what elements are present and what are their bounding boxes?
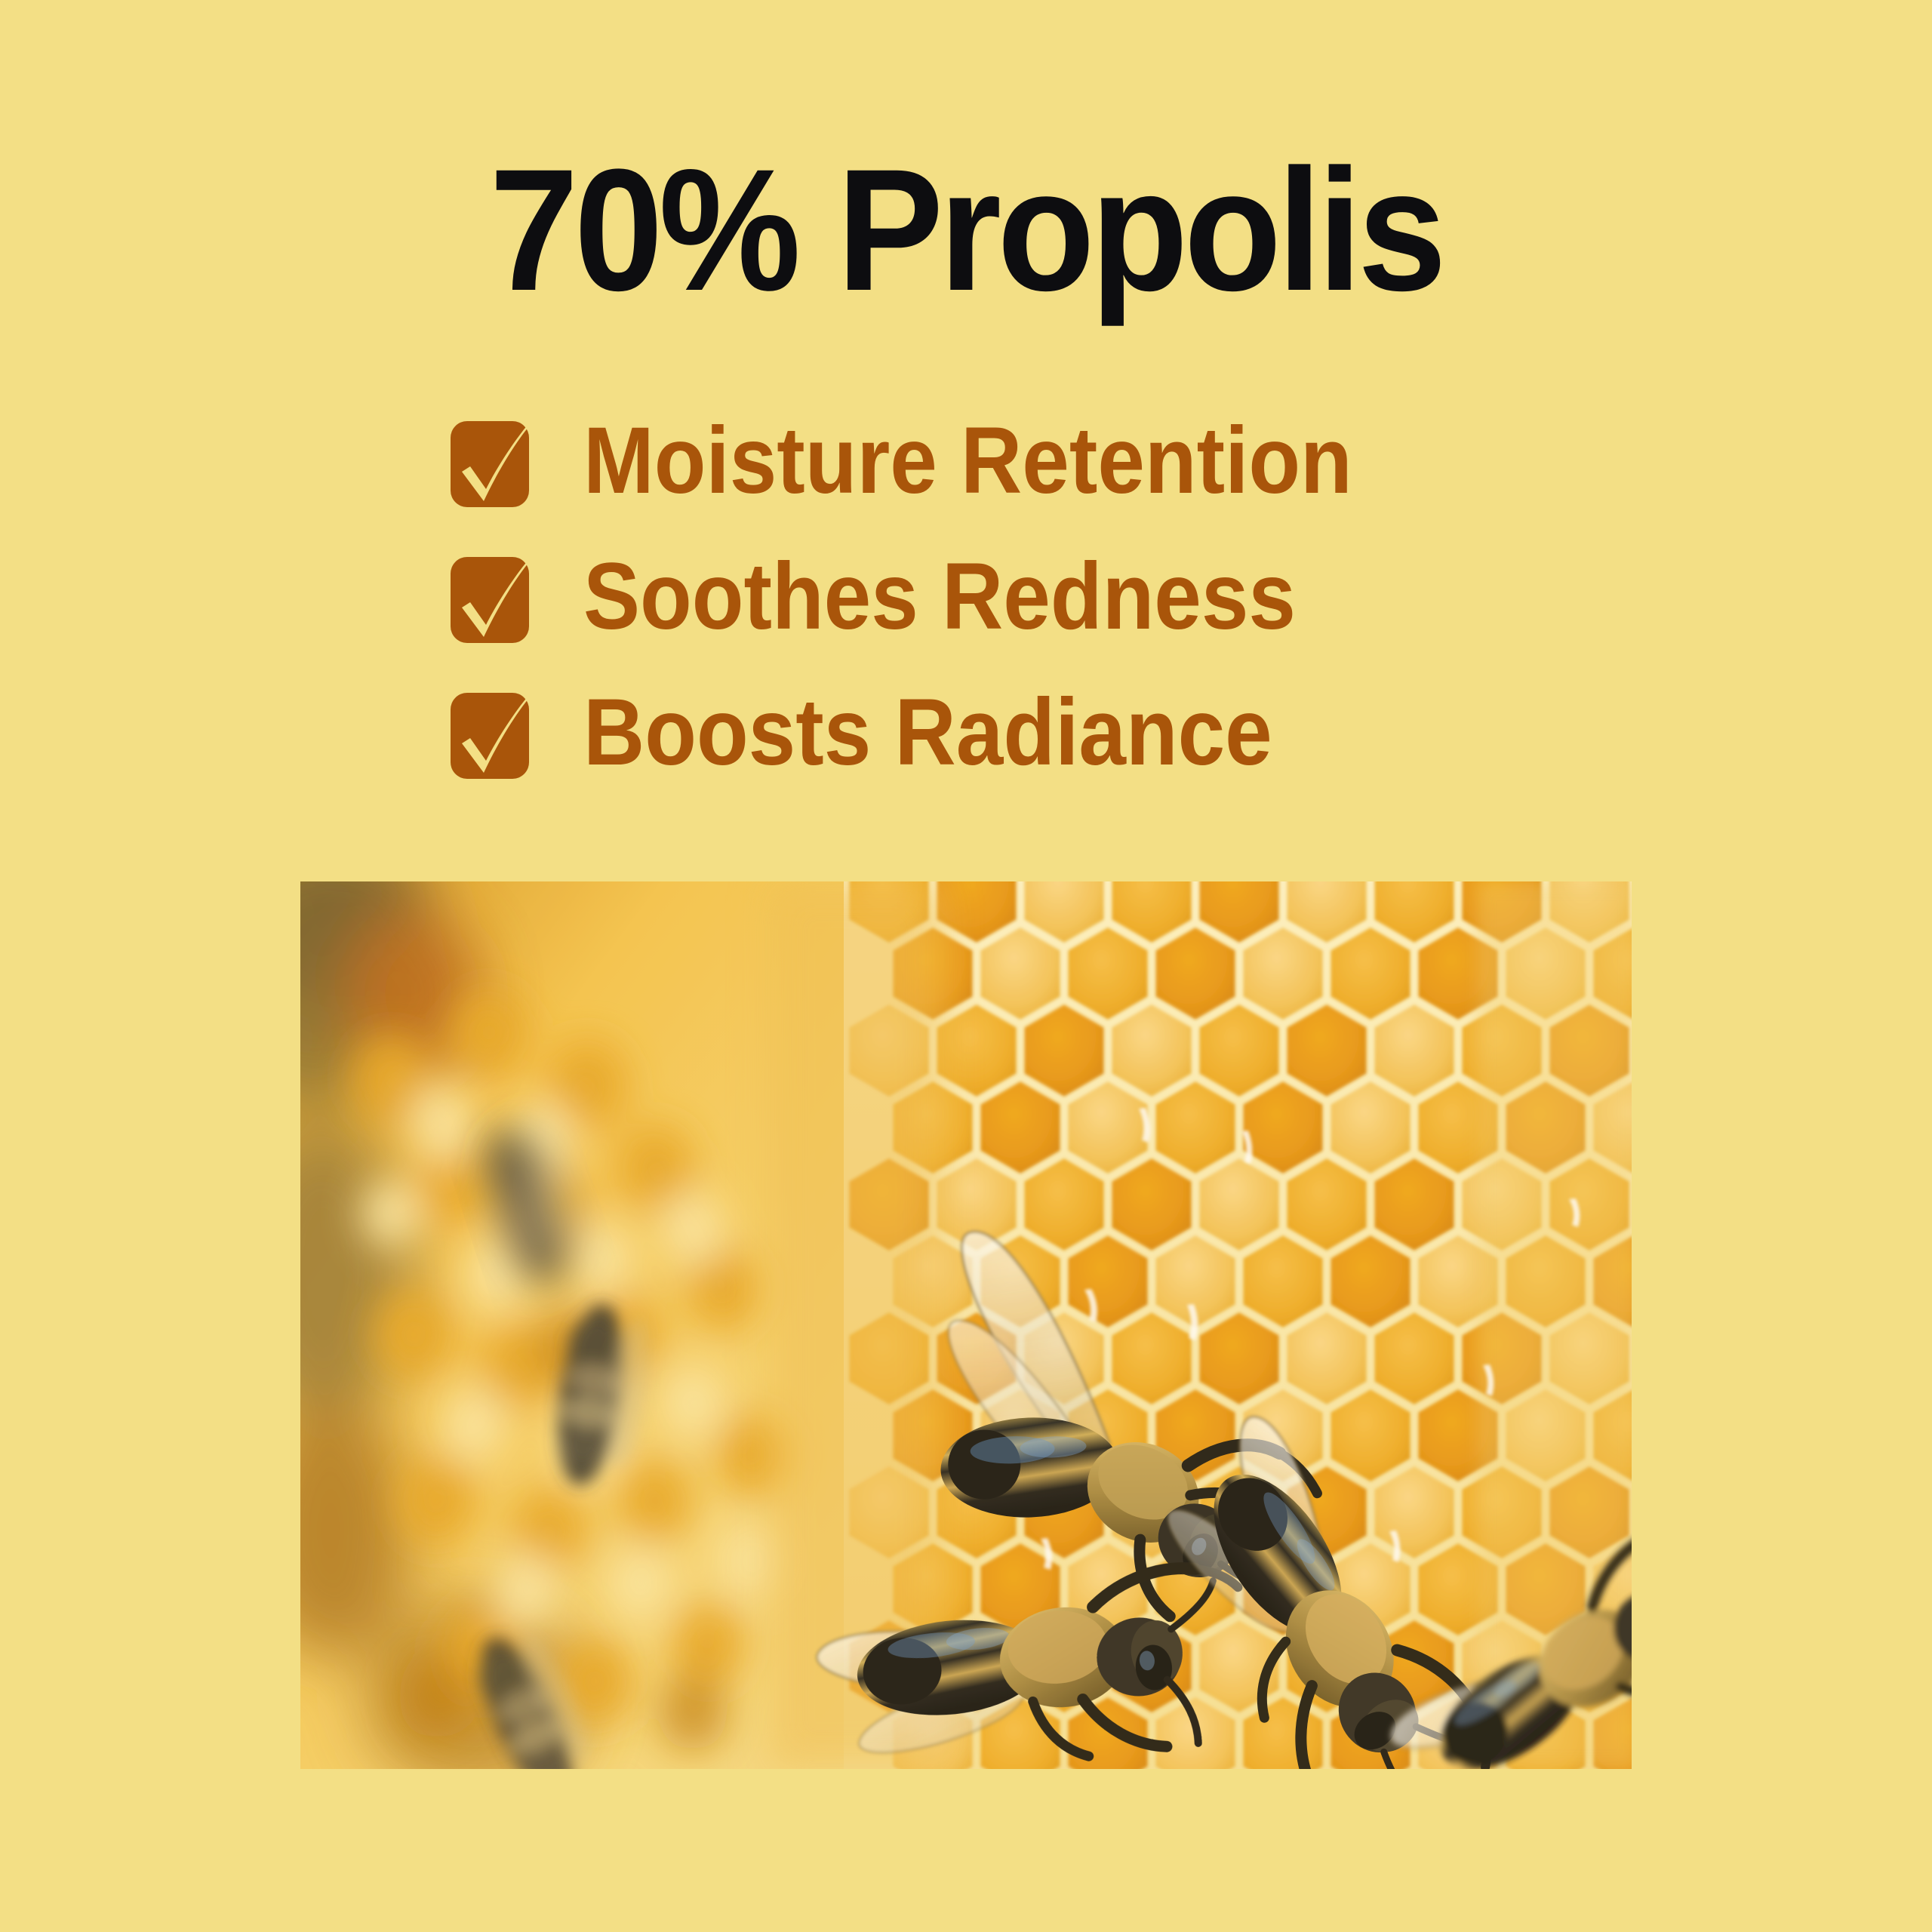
list-item-label: Moisture Retention <box>583 417 1352 506</box>
checkbox-checked-icon <box>451 557 529 643</box>
honeycomb-photo <box>300 881 1632 1769</box>
page-title: 70% Propolis <box>77 143 1854 317</box>
checkbox-checked-icon <box>451 421 529 507</box>
list-item-label: Boosts Radiance <box>583 688 1272 777</box>
list-item: Moisture Retention <box>451 417 1583 515</box>
list-item-label: Soothes Redness <box>583 552 1296 641</box>
benefits-list: Moisture Retention Soothes Redness Boost… <box>451 417 1583 787</box>
list-item: Boosts Radiance <box>451 688 1583 787</box>
list-item: Soothes Redness <box>451 552 1583 651</box>
checkbox-checked-icon <box>451 693 529 779</box>
promo-card: 70% Propolis Moisture Retention Soothes … <box>0 0 1932 1932</box>
